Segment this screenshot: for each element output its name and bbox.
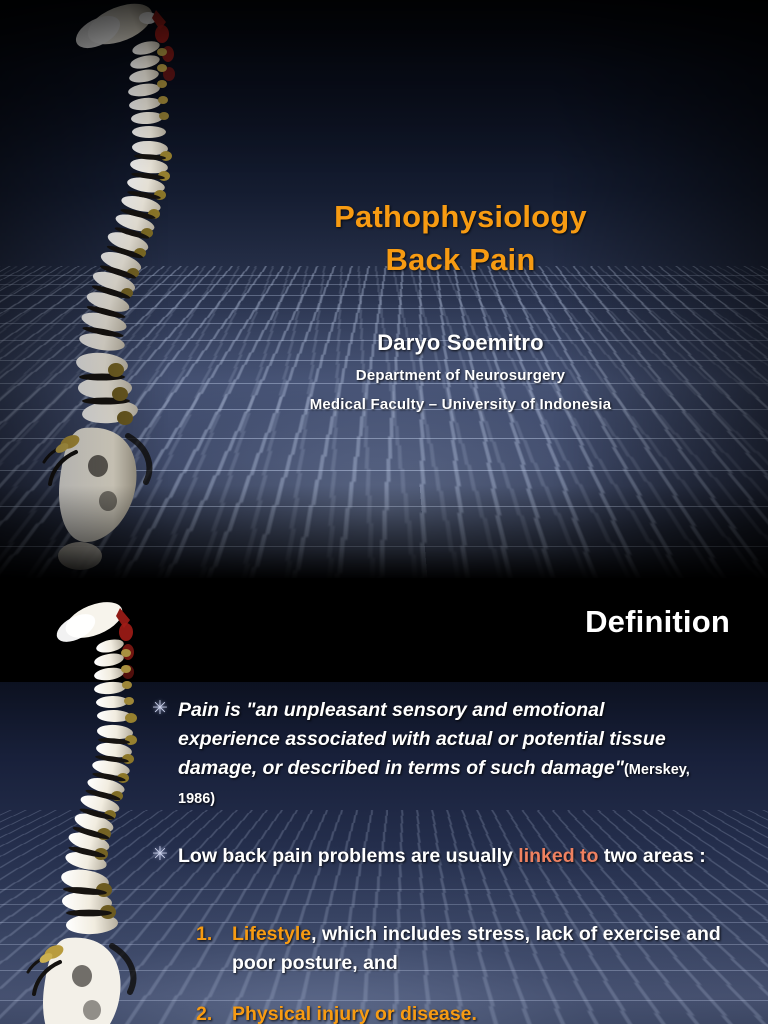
numbered-list: 1. Lifestyle, which includes stress, lac…	[196, 920, 746, 1024]
slide-definition: Definition	[0, 578, 768, 1024]
slide-title: Pathophysiology Back Pain Daryo Soemitro…	[0, 0, 768, 578]
text-before-highlight: Low back pain problems are usually	[178, 845, 518, 867]
star-bullet-icon: ✳	[152, 696, 178, 811]
list-item-number: 2.	[196, 1000, 232, 1024]
slide-header-band: Definition	[0, 578, 768, 682]
list-item-number: 1.	[196, 920, 232, 978]
affiliation-institution: Medical Faculty – University of Indonesi…	[188, 396, 733, 413]
list-item-text: Lifestyle, which includes stress, lack o…	[232, 920, 746, 978]
author-name: Daryo Soemitro	[188, 330, 733, 356]
title-line-2: Back Pain	[188, 239, 733, 282]
low-back-pain-text: Low back pain problems are usually linke…	[178, 842, 706, 871]
text-after-highlight: two areas :	[598, 845, 705, 867]
definition-quote-text: Pain is "an unpleasant sensory and emoti…	[178, 696, 692, 811]
bullet-item-quote: ✳ Pain is "an unpleasant sensory and emo…	[152, 696, 692, 811]
presentation-page: Pathophysiology Back Pain Daryo Soemitro…	[0, 0, 768, 1024]
list-item: 1. Lifestyle, which includes stress, lac…	[196, 920, 746, 978]
page-title: Pathophysiology Back Pain	[188, 196, 733, 282]
title-block: Pathophysiology Back Pain Daryo Soemitro…	[188, 0, 768, 578]
bullet-item-areas: ✳ Low back pain problems are usually lin…	[152, 842, 712, 871]
slide-body: ✳ Pain is "an unpleasant sensory and emo…	[0, 682, 768, 1024]
highlight-linked-to: linked to	[518, 845, 598, 867]
slide-heading: Definition	[585, 604, 730, 640]
quote-text: Pain is "an unpleasant sensory and emoti…	[178, 699, 666, 779]
list-item-text: Physical injury or disease.	[232, 1000, 477, 1024]
list-item: 2. Physical injury or disease.	[196, 1000, 746, 1024]
highlight-physical-injury: Physical injury or disease.	[232, 1003, 477, 1024]
affiliation-department: Department of Neurosurgery	[188, 367, 733, 384]
highlight-lifestyle: Lifestyle	[232, 923, 311, 945]
title-line-1: Pathophysiology	[188, 196, 733, 239]
star-bullet-icon: ✳	[152, 842, 178, 871]
